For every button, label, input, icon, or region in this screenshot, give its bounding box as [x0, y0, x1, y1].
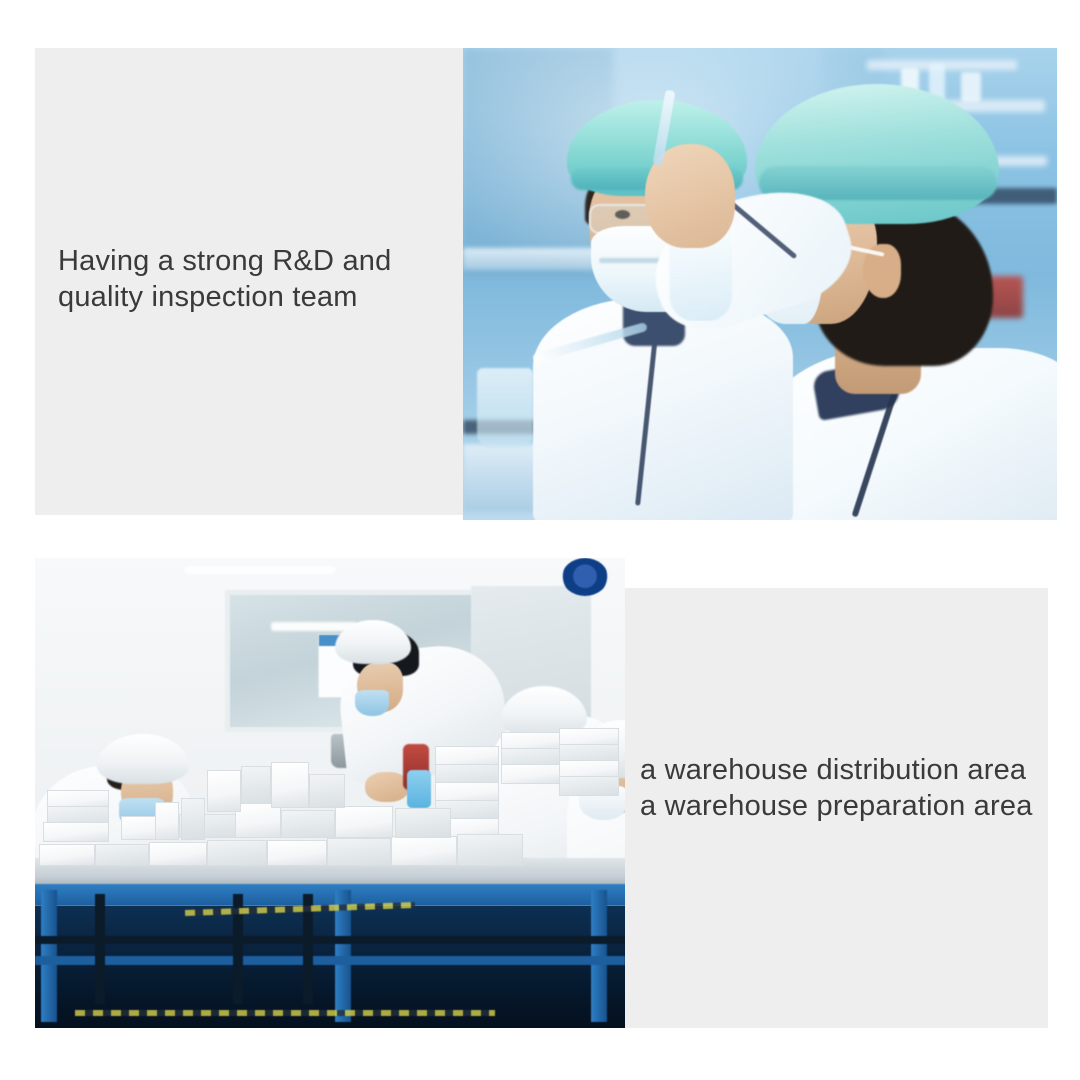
bottom-caption-line-1: a warehouse distribution area — [640, 752, 1033, 788]
packer-3-blue-cuff — [407, 770, 431, 808]
packing-table-apron — [35, 884, 625, 906]
table-rail — [35, 956, 625, 965]
top-caption: Having a strong R&D and quality inspecti… — [58, 243, 391, 315]
ceiling-light — [185, 566, 335, 574]
carton — [95, 844, 149, 866]
warehouse-packing-photo — [35, 558, 625, 1028]
carton — [281, 810, 335, 838]
under-table-strut — [95, 894, 105, 1004]
bottom-caption: a warehouse distribution area a warehous… — [640, 752, 1033, 824]
carton — [149, 842, 207, 866]
wall-sign-icon — [562, 558, 608, 596]
carton — [501, 764, 561, 784]
carton — [391, 836, 457, 866]
poster-canvas: Having a strong R&D and quality inspecti… — [0, 0, 1080, 1080]
top-caption-line-1: Having a strong R&D and — [58, 243, 391, 279]
carton-upright — [155, 802, 179, 840]
carton — [43, 822, 109, 842]
carton — [39, 844, 95, 866]
carton-upright — [309, 774, 345, 808]
floor-marking-tape — [75, 1010, 495, 1016]
top-caption-line-2: quality inspection team — [58, 279, 391, 315]
carton-upright — [271, 762, 309, 808]
under-table-crossbar — [35, 936, 625, 944]
carton — [457, 834, 523, 866]
carton — [395, 808, 451, 838]
packer-2-face-mask — [355, 690, 389, 716]
carton — [267, 840, 327, 866]
lab-inspection-photo — [463, 48, 1057, 520]
carton-upright — [241, 766, 271, 804]
carton — [327, 838, 391, 866]
carton — [335, 806, 393, 838]
carton-upright — [181, 798, 205, 840]
carton — [207, 840, 267, 866]
glass-beaker — [477, 368, 533, 448]
carton — [559, 776, 619, 796]
carton-upright — [207, 770, 241, 812]
bottom-caption-line-2: a warehouse preparation area — [640, 788, 1033, 824]
